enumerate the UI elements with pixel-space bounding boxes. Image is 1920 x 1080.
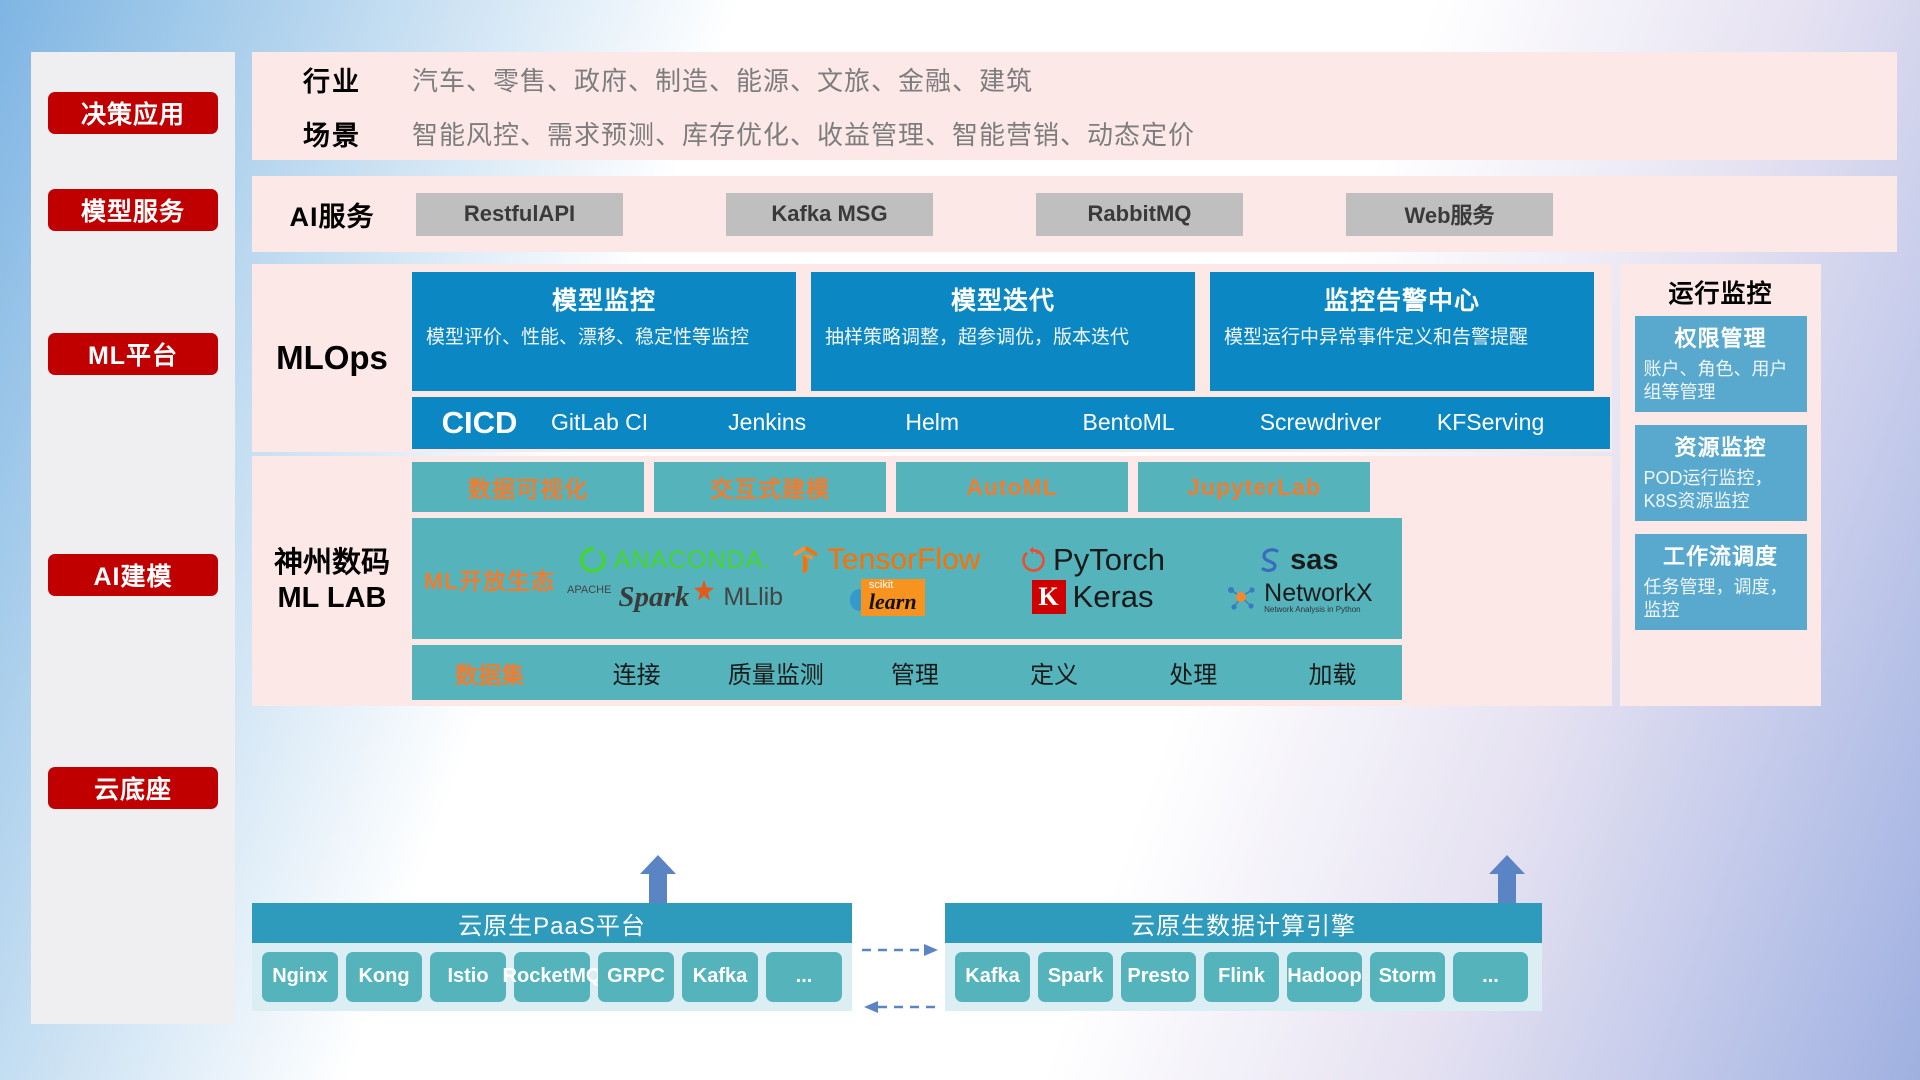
logo-anaconda: ANACONDA. bbox=[567, 546, 783, 575]
card-title: 工作流调度 bbox=[1644, 539, 1798, 571]
card-desc: 账户、角色、用户组等管理 bbox=[1644, 358, 1798, 403]
ml-lab-label-line1: 神州数码 bbox=[274, 546, 390, 581]
monitor-card-permission[interactable]: 权限管理 账户、角色、用户组等管理 bbox=[1635, 316, 1807, 412]
service-chip-label: RabbitMQ bbox=[1088, 201, 1192, 227]
logo-pytorch: PyTorch bbox=[989, 542, 1195, 578]
data-chip-storm[interactable]: Storm bbox=[1370, 952, 1445, 1002]
applications-band: 行业 汽车、零售、政府、制造、能源、文旅、金融、建筑 场景 智能风控、需求预测、… bbox=[252, 52, 1897, 160]
keras-wordmark: Keras bbox=[1073, 579, 1154, 615]
data-chip-spark[interactable]: Spark bbox=[1038, 952, 1113, 1002]
mlops-card-list: 模型监控 模型评价、性能、漂移、稳定性等监控 模型迭代 抽样策略调整，超参调优，… bbox=[412, 272, 1594, 391]
rail-chip-cloud-base[interactable]: 云底座 bbox=[48, 767, 218, 809]
ai-services-chip-list: RestfulAPI Kafka MSG RabbitMQ Web服务 bbox=[412, 193, 1553, 236]
pytorch-icon bbox=[1020, 545, 1046, 575]
layer-rail: 决策应用 模型服务 ML平台 AI建模 云底座 bbox=[31, 52, 235, 1024]
service-chip-label: Web服务 bbox=[1404, 198, 1494, 230]
spark-apache-label: APACHE bbox=[567, 584, 611, 596]
card-title: 监控告警中心 bbox=[1224, 281, 1580, 317]
ai-services-label: AI服务 bbox=[252, 195, 412, 234]
rail-chip-label: 云底座 bbox=[94, 770, 172, 806]
service-chip-rabbitmq[interactable]: RabbitMQ bbox=[1036, 193, 1243, 236]
mllib-wordmark: MLlib bbox=[723, 583, 783, 612]
paas-chip-list: Nginx Kong Istio RocketMQ GRPC Kafka ... bbox=[252, 943, 852, 1002]
data-chip-presto[interactable]: Presto bbox=[1121, 952, 1196, 1002]
ml-ecosystem-panel: ML开放生态 ANACONDA. bbox=[412, 518, 1402, 639]
anaconda-wordmark: ANACONDA. bbox=[614, 546, 772, 575]
paas-chip-istio[interactable]: Istio bbox=[430, 952, 506, 1002]
paas-chip-rocketmq[interactable]: RocketMQ bbox=[514, 952, 590, 1002]
cicd-item-list: GitLab CI Jenkins Helm BentoML Screwdriv… bbox=[547, 410, 1610, 436]
sas-icon bbox=[1259, 546, 1283, 574]
card-title: 模型迭代 bbox=[825, 281, 1181, 317]
service-chip-restfulapi[interactable]: RestfulAPI bbox=[416, 193, 623, 236]
data-engine-block: 云原生数据计算引擎 Kafka Spark Presto Flink Hadoo… bbox=[945, 903, 1542, 1011]
mlops-card-alert-center[interactable]: 监控告警中心 模型运行中异常事件定义和告警提醒 bbox=[1210, 272, 1594, 391]
service-chip-kafka-msg[interactable]: Kafka MSG bbox=[726, 193, 933, 236]
scenario-value: 智能风控、需求预测、库存优化、收益管理、智能营销、动态定价 bbox=[412, 115, 1195, 152]
lab-tool-label: 交互式建模 bbox=[710, 470, 830, 504]
spark-star-icon bbox=[692, 579, 716, 603]
ml-lab-tool-list: 数据可视化 交互式建模 AutoML JupyterLab bbox=[412, 462, 1370, 512]
card-title: 资源监控 bbox=[1644, 430, 1798, 462]
mlops-card-model-monitoring[interactable]: 模型监控 模型评价、性能、漂移、稳定性等监控 bbox=[412, 272, 796, 391]
rail-chip-decision[interactable]: 决策应用 bbox=[48, 92, 218, 134]
service-chip-label: Kafka MSG bbox=[771, 201, 887, 227]
paas-chip-grpc[interactable]: GRPC bbox=[598, 952, 674, 1002]
data-chip-more[interactable]: ... bbox=[1453, 952, 1528, 1002]
card-desc: 任务管理，调度，监控 bbox=[1644, 576, 1798, 621]
rail-chip-label: AI建模 bbox=[93, 557, 172, 593]
cicd-item-gitlab-ci[interactable]: GitLab CI bbox=[547, 410, 724, 436]
ml-lab-label-line2: ML LAB bbox=[277, 581, 386, 616]
rail-chip-label: 模型服务 bbox=[81, 192, 185, 228]
logo-spark-mllib: APACHE Spark MLlib bbox=[567, 581, 783, 614]
service-chip-web-service[interactable]: Web服务 bbox=[1346, 193, 1553, 236]
dataset-bar: 数据集 连接 质量监测 管理 定义 处理 加载 bbox=[412, 645, 1402, 700]
logo-keras: K Keras bbox=[989, 579, 1195, 615]
dataset-label: 数据集 bbox=[412, 656, 567, 690]
link-arrow-right-icon bbox=[862, 943, 940, 957]
mlops-card-model-iteration[interactable]: 模型迭代 抽样策略调整，超参调优，版本迭代 bbox=[811, 272, 1195, 391]
data-engine-up-arrow-icon bbox=[1487, 855, 1527, 899]
data-chip-kafka[interactable]: Kafka bbox=[955, 952, 1030, 1002]
dataset-item-connect[interactable]: 连接 bbox=[567, 655, 706, 690]
rail-chip-model-service[interactable]: 模型服务 bbox=[48, 189, 218, 231]
industry-value: 汽车、零售、政府、制造、能源、文旅、金融、建筑 bbox=[412, 61, 1033, 98]
cicd-bar: CICD GitLab CI Jenkins Helm BentoML Scre… bbox=[412, 397, 1610, 449]
networkx-wordmark-group: NetworkX Network Analysis in Python bbox=[1264, 581, 1372, 614]
dataset-item-define[interactable]: 定义 bbox=[985, 655, 1124, 690]
mlops-label: MLOps bbox=[252, 264, 412, 452]
anaconda-icon bbox=[579, 546, 607, 574]
runtime-monitoring-panel: 运行监控 权限管理 账户、角色、用户组等管理 资源监控 POD运行监控，K8S资… bbox=[1620, 264, 1821, 706]
lab-tool-interactive-modeling[interactable]: 交互式建模 bbox=[654, 462, 886, 512]
mlops-band: MLOps 模型监控 模型评价、性能、漂移、稳定性等监控 模型迭代 抽样策略调整… bbox=[252, 264, 1612, 452]
dataset-item-list: 连接 质量监测 管理 定义 处理 加载 bbox=[567, 655, 1402, 690]
cicd-label: CICD bbox=[412, 405, 547, 441]
card-desc: POD运行监控，K8S资源监控 bbox=[1644, 467, 1798, 512]
card-desc: 模型运行中异常事件定义和告警提醒 bbox=[1224, 326, 1580, 349]
paas-chip-kong[interactable]: Kong bbox=[346, 952, 422, 1002]
ml-lab-band: 神州数码 ML LAB 数据可视化 交互式建模 AutoML JupyterLa… bbox=[252, 456, 1612, 706]
industry-label: 行业 bbox=[252, 60, 412, 99]
cicd-item-kfserving[interactable]: KFServing bbox=[1433, 410, 1610, 436]
monitor-card-workflow[interactable]: 工作流调度 任务管理，调度，监控 bbox=[1635, 534, 1807, 630]
link-arrow-left-icon bbox=[862, 1000, 940, 1014]
paas-chip-more[interactable]: ... bbox=[766, 952, 842, 1002]
data-engine-chip-list: Kafka Spark Presto Flink Hadoop Storm ..… bbox=[945, 943, 1542, 1002]
lab-tool-jupyterlab[interactable]: JupyterLab bbox=[1138, 462, 1370, 512]
card-desc: 模型评价、性能、漂移、稳定性等监控 bbox=[426, 326, 782, 349]
keras-mark-icon: K bbox=[1032, 580, 1066, 614]
ai-services-band: AI服务 RestfulAPI Kafka MSG RabbitMQ Web服务 bbox=[252, 176, 1897, 252]
card-title: 权限管理 bbox=[1644, 321, 1798, 353]
lab-tool-label: 数据可视化 bbox=[468, 470, 588, 504]
networkx-tagline: Network Analysis in Python bbox=[1264, 606, 1372, 614]
monitor-card-resource[interactable]: 资源监控 POD运行监控，K8S资源监控 bbox=[1635, 425, 1807, 521]
cicd-item-jenkins[interactable]: Jenkins bbox=[724, 410, 901, 436]
paas-platform-block: 云原生PaaS平台 Nginx Kong Istio RocketMQ GRPC… bbox=[252, 903, 852, 1011]
lab-tool-data-visualization[interactable]: 数据可视化 bbox=[412, 462, 644, 512]
cicd-item-bentoml[interactable]: BentoML bbox=[1079, 410, 1256, 436]
paas-up-arrow-icon bbox=[638, 855, 678, 899]
ml-ecosystem-logo-grid: ANACONDA. TensorFlow bbox=[567, 542, 1402, 616]
lab-tool-label: JupyterLab bbox=[1187, 474, 1321, 501]
runtime-monitoring-title: 运行监控 bbox=[1620, 264, 1821, 316]
networkx-wordmark: NetworkX bbox=[1264, 581, 1372, 606]
scenario-row: 场景 智能风控、需求预测、库存优化、收益管理、智能营销、动态定价 bbox=[252, 106, 1897, 160]
card-desc: 抽样策略调整，超参调优，版本迭代 bbox=[825, 326, 1181, 349]
logo-scikit-learn: scikit learn bbox=[783, 579, 989, 616]
cicd-item-helm[interactable]: Helm bbox=[901, 410, 1078, 436]
learn-wordmark: learn bbox=[869, 591, 917, 613]
rail-chip-label: 决策应用 bbox=[81, 95, 185, 131]
scenario-label: 场景 bbox=[252, 114, 412, 153]
card-title: 模型监控 bbox=[426, 281, 782, 317]
scikit-learn-badge: scikit learn bbox=[861, 579, 925, 616]
data-engine-title: 云原生数据计算引擎 bbox=[945, 903, 1542, 943]
dataset-item-process[interactable]: 处理 bbox=[1124, 655, 1263, 690]
paas-platform-title: 云原生PaaS平台 bbox=[252, 903, 852, 943]
rail-chip-ai-modeling[interactable]: AI建模 bbox=[48, 554, 218, 596]
spark-wordmark: Spark bbox=[618, 581, 689, 614]
tensorflow-icon bbox=[792, 545, 820, 575]
logo-tensorflow: TensorFlow bbox=[783, 543, 989, 577]
service-chip-label: RestfulAPI bbox=[464, 201, 575, 227]
rail-chip-label: ML平台 bbox=[88, 336, 178, 372]
lab-tool-automl[interactable]: AutoML bbox=[896, 462, 1128, 512]
networkx-icon bbox=[1225, 582, 1257, 612]
lab-tool-label: AutoML bbox=[966, 474, 1058, 501]
dataset-item-quality-monitoring[interactable]: 质量监测 bbox=[706, 655, 845, 690]
tensorflow-wordmark: TensorFlow bbox=[827, 543, 980, 577]
paas-chip-kafka[interactable]: Kafka bbox=[682, 952, 758, 1002]
sas-wordmark: sas bbox=[1290, 544, 1338, 577]
rail-chip-ml-platform[interactable]: ML平台 bbox=[48, 333, 218, 375]
ml-ecosystem-label: ML开放生态 bbox=[412, 562, 567, 596]
paas-chip-nginx[interactable]: Nginx bbox=[262, 952, 338, 1002]
dataset-item-manage[interactable]: 管理 bbox=[845, 655, 984, 690]
data-chip-flink[interactable]: Flink bbox=[1204, 952, 1279, 1002]
logo-sas: sas bbox=[1196, 544, 1402, 577]
cicd-item-screwdriver[interactable]: Screwdriver bbox=[1256, 410, 1433, 436]
pytorch-wordmark: PyTorch bbox=[1053, 542, 1165, 578]
industry-row: 行业 汽车、零售、政府、制造、能源、文旅、金融、建筑 bbox=[252, 52, 1897, 106]
ml-lab-label: 神州数码 ML LAB bbox=[252, 456, 412, 706]
dataset-item-load[interactable]: 加载 bbox=[1263, 655, 1402, 690]
logo-networkx: NetworkX Network Analysis in Python bbox=[1196, 581, 1402, 614]
data-chip-hadoop[interactable]: Hadoop bbox=[1287, 952, 1362, 1002]
